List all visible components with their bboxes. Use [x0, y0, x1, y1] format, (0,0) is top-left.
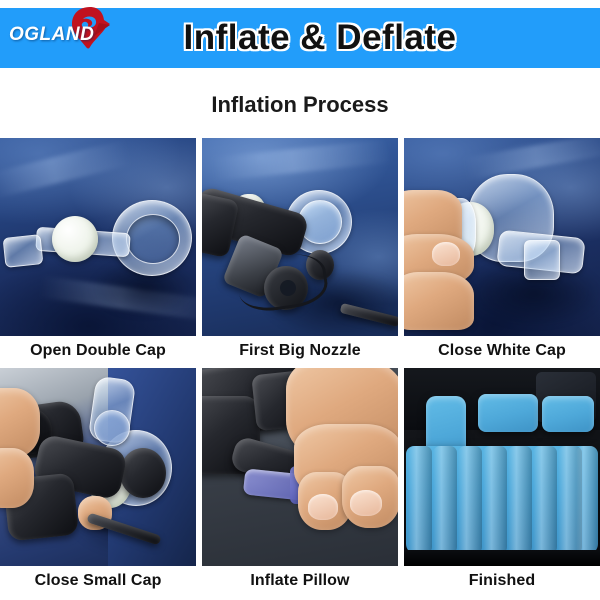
steps-grid: Open Double Cap	[0, 138, 600, 598]
page-title: Inflate & Deflate	[0, 8, 600, 68]
step-caption-1: Open Double Cap	[0, 336, 196, 360]
step-card-5: Inflate Pillow	[202, 368, 398, 590]
step-photo-3	[404, 138, 600, 336]
step-photo-1	[0, 138, 196, 336]
step-caption-4: Close Small Cap	[0, 566, 196, 590]
section-subtitle: Inflation Process	[0, 92, 600, 118]
steps-row-2: Close Small Cap	[0, 368, 600, 598]
step-caption-3: Close White Cap	[404, 336, 600, 360]
step-photo-2	[202, 138, 398, 336]
step-card-6: Finished	[404, 368, 600, 590]
step-photo-6	[404, 368, 600, 566]
step-card-2: First Big Nozzle	[202, 138, 398, 360]
steps-row-1: Open Double Cap	[0, 138, 600, 368]
step-photo-4	[0, 368, 196, 566]
header-banner: OGLAND Inflate & Deflate	[0, 8, 600, 68]
step-card-1: Open Double Cap	[0, 138, 196, 360]
step-card-4: Close Small Cap	[0, 368, 196, 590]
step-photo-5	[202, 368, 398, 566]
infographic-page: OGLAND Inflate & Deflate Inflation Proce…	[0, 0, 600, 600]
step-caption-5: Inflate Pillow	[202, 566, 398, 590]
step-caption-6: Finished	[404, 566, 600, 590]
step-caption-2: First Big Nozzle	[202, 336, 398, 360]
mattress-body	[406, 446, 598, 554]
step-card-3: Close White Cap	[404, 138, 600, 360]
